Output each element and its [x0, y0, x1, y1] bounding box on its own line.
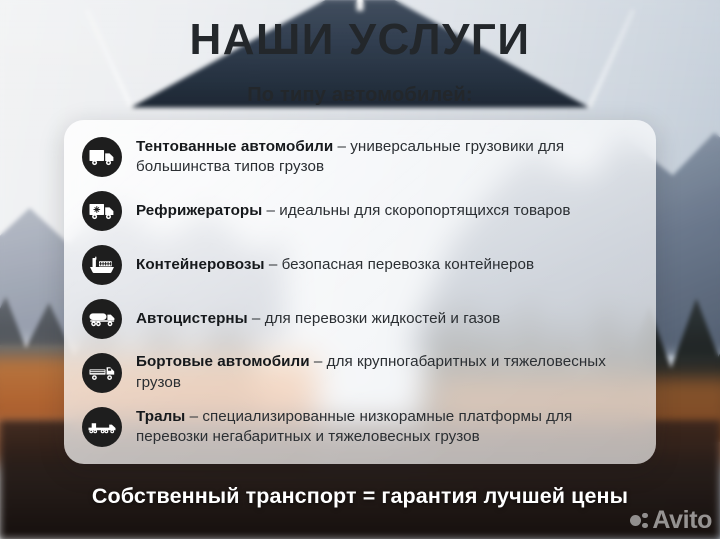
service-term: Контейнеровозы [136, 256, 265, 273]
service-term: Бортовые автомобили [136, 353, 310, 370]
service-term: Автоцистерны [136, 310, 248, 327]
refrigerated-truck-icon [82, 191, 122, 231]
lowboy-trailer-icon [82, 407, 122, 447]
service-item-text: Контейнеровозы – безопасная перевозка ко… [136, 255, 534, 275]
footer-slogan: Собственный транспорт = гарантия лучшей … [0, 484, 720, 509]
tanker-truck-icon [82, 299, 122, 339]
service-term: Тентованные автомобили [136, 138, 333, 155]
service-term: Тралы [136, 408, 185, 425]
services-card: Тентованные автомобили – универсальные г… [64, 120, 656, 464]
service-term: Рефрижераторы [136, 202, 262, 219]
service-item-text: Бортовые автомобили – для крупногабаритн… [136, 352, 634, 392]
service-item-text: Автоцистерны – для перевозки жидкостей и… [136, 309, 500, 329]
service-item-text: Рефрижераторы – идеальны для скоропортящ… [136, 201, 571, 221]
avito-dots-icon [630, 512, 648, 530]
box-truck-icon [82, 137, 122, 177]
avito-brand-label: Avito [652, 508, 712, 533]
avito-watermark: Avito [630, 508, 712, 533]
container-ship-icon [82, 245, 122, 285]
page-title: НАШИ УСЛУГИ [0, 18, 720, 62]
service-item-refrigerator: Рефрижераторы – идеальны для скоропортящ… [82, 191, 634, 231]
service-item-tanker: Автоцистерны – для перевозки жидкостей и… [82, 299, 634, 339]
flatbed-truck-icon [82, 353, 122, 393]
service-item-text: Тентованные автомобили – универсальные г… [136, 137, 634, 177]
service-item-flatbed: Бортовые автомобили – для крупногабаритн… [82, 352, 634, 392]
service-item-tented-truck: Тентованные автомобили – универсальные г… [82, 137, 634, 177]
service-desc: – безопасная перевозка контейнеров [265, 256, 535, 273]
page-subtitle: По типу автомобилей: [0, 84, 720, 107]
service-desc: – для перевозки жидкостей и газов [248, 310, 501, 327]
service-item-lowboy-trailer: Тралы – специализированные низкорамные п… [82, 407, 634, 447]
service-poster: НАШИ УСЛУГИ По типу автомобилей: Тентова… [0, 0, 720, 539]
service-item-container-carrier: Контейнеровозы – безопасная перевозка ко… [82, 245, 634, 285]
service-desc: – идеальны для скоропортящихся товаров [262, 202, 570, 219]
service-item-text: Тралы – специализированные низкорамные п… [136, 407, 634, 447]
service-desc: – специализированные низкорамные платфор… [136, 408, 572, 445]
